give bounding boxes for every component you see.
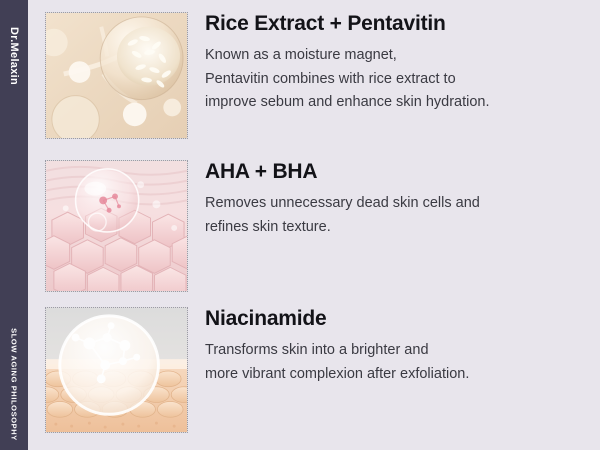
section-headline: AHA + BHA <box>205 160 600 183</box>
section-headline: Rice Extract + Pentavitin <box>205 12 600 35</box>
section-copy: AHA + BHA Removes unnecessary dead skin … <box>205 160 600 239</box>
section-body: Transforms skin into a brighter and more… <box>205 339 600 386</box>
rice-extract-droplets-photo <box>45 12 188 139</box>
section-headline: Niacinamide <box>205 307 600 330</box>
brand-name: Dr.Melaxin <box>8 27 20 85</box>
section-copy: Rice Extract + Pentavitin Known as a moi… <box>205 12 600 115</box>
brand-rail: Dr.Melaxin SLOW AGING PHILOSOPHY <box>0 0 28 450</box>
brand-tagline: SLOW AGING PHILOSOPHY <box>10 328 19 441</box>
skin-cells-pink-photo <box>45 160 188 292</box>
section-copy: Niacinamide Transforms skin into a brigh… <box>205 307 600 386</box>
section-body: Removes unnecessary dead skin cells and … <box>205 192 600 239</box>
section-body: Known as a moisture magnet, Pentavitin c… <box>205 44 600 114</box>
ingredient-infographic-page: Dr.Melaxin SLOW AGING PHILOSOPHY <box>0 0 600 450</box>
niacinamide-molecule-photo <box>45 307 188 433</box>
